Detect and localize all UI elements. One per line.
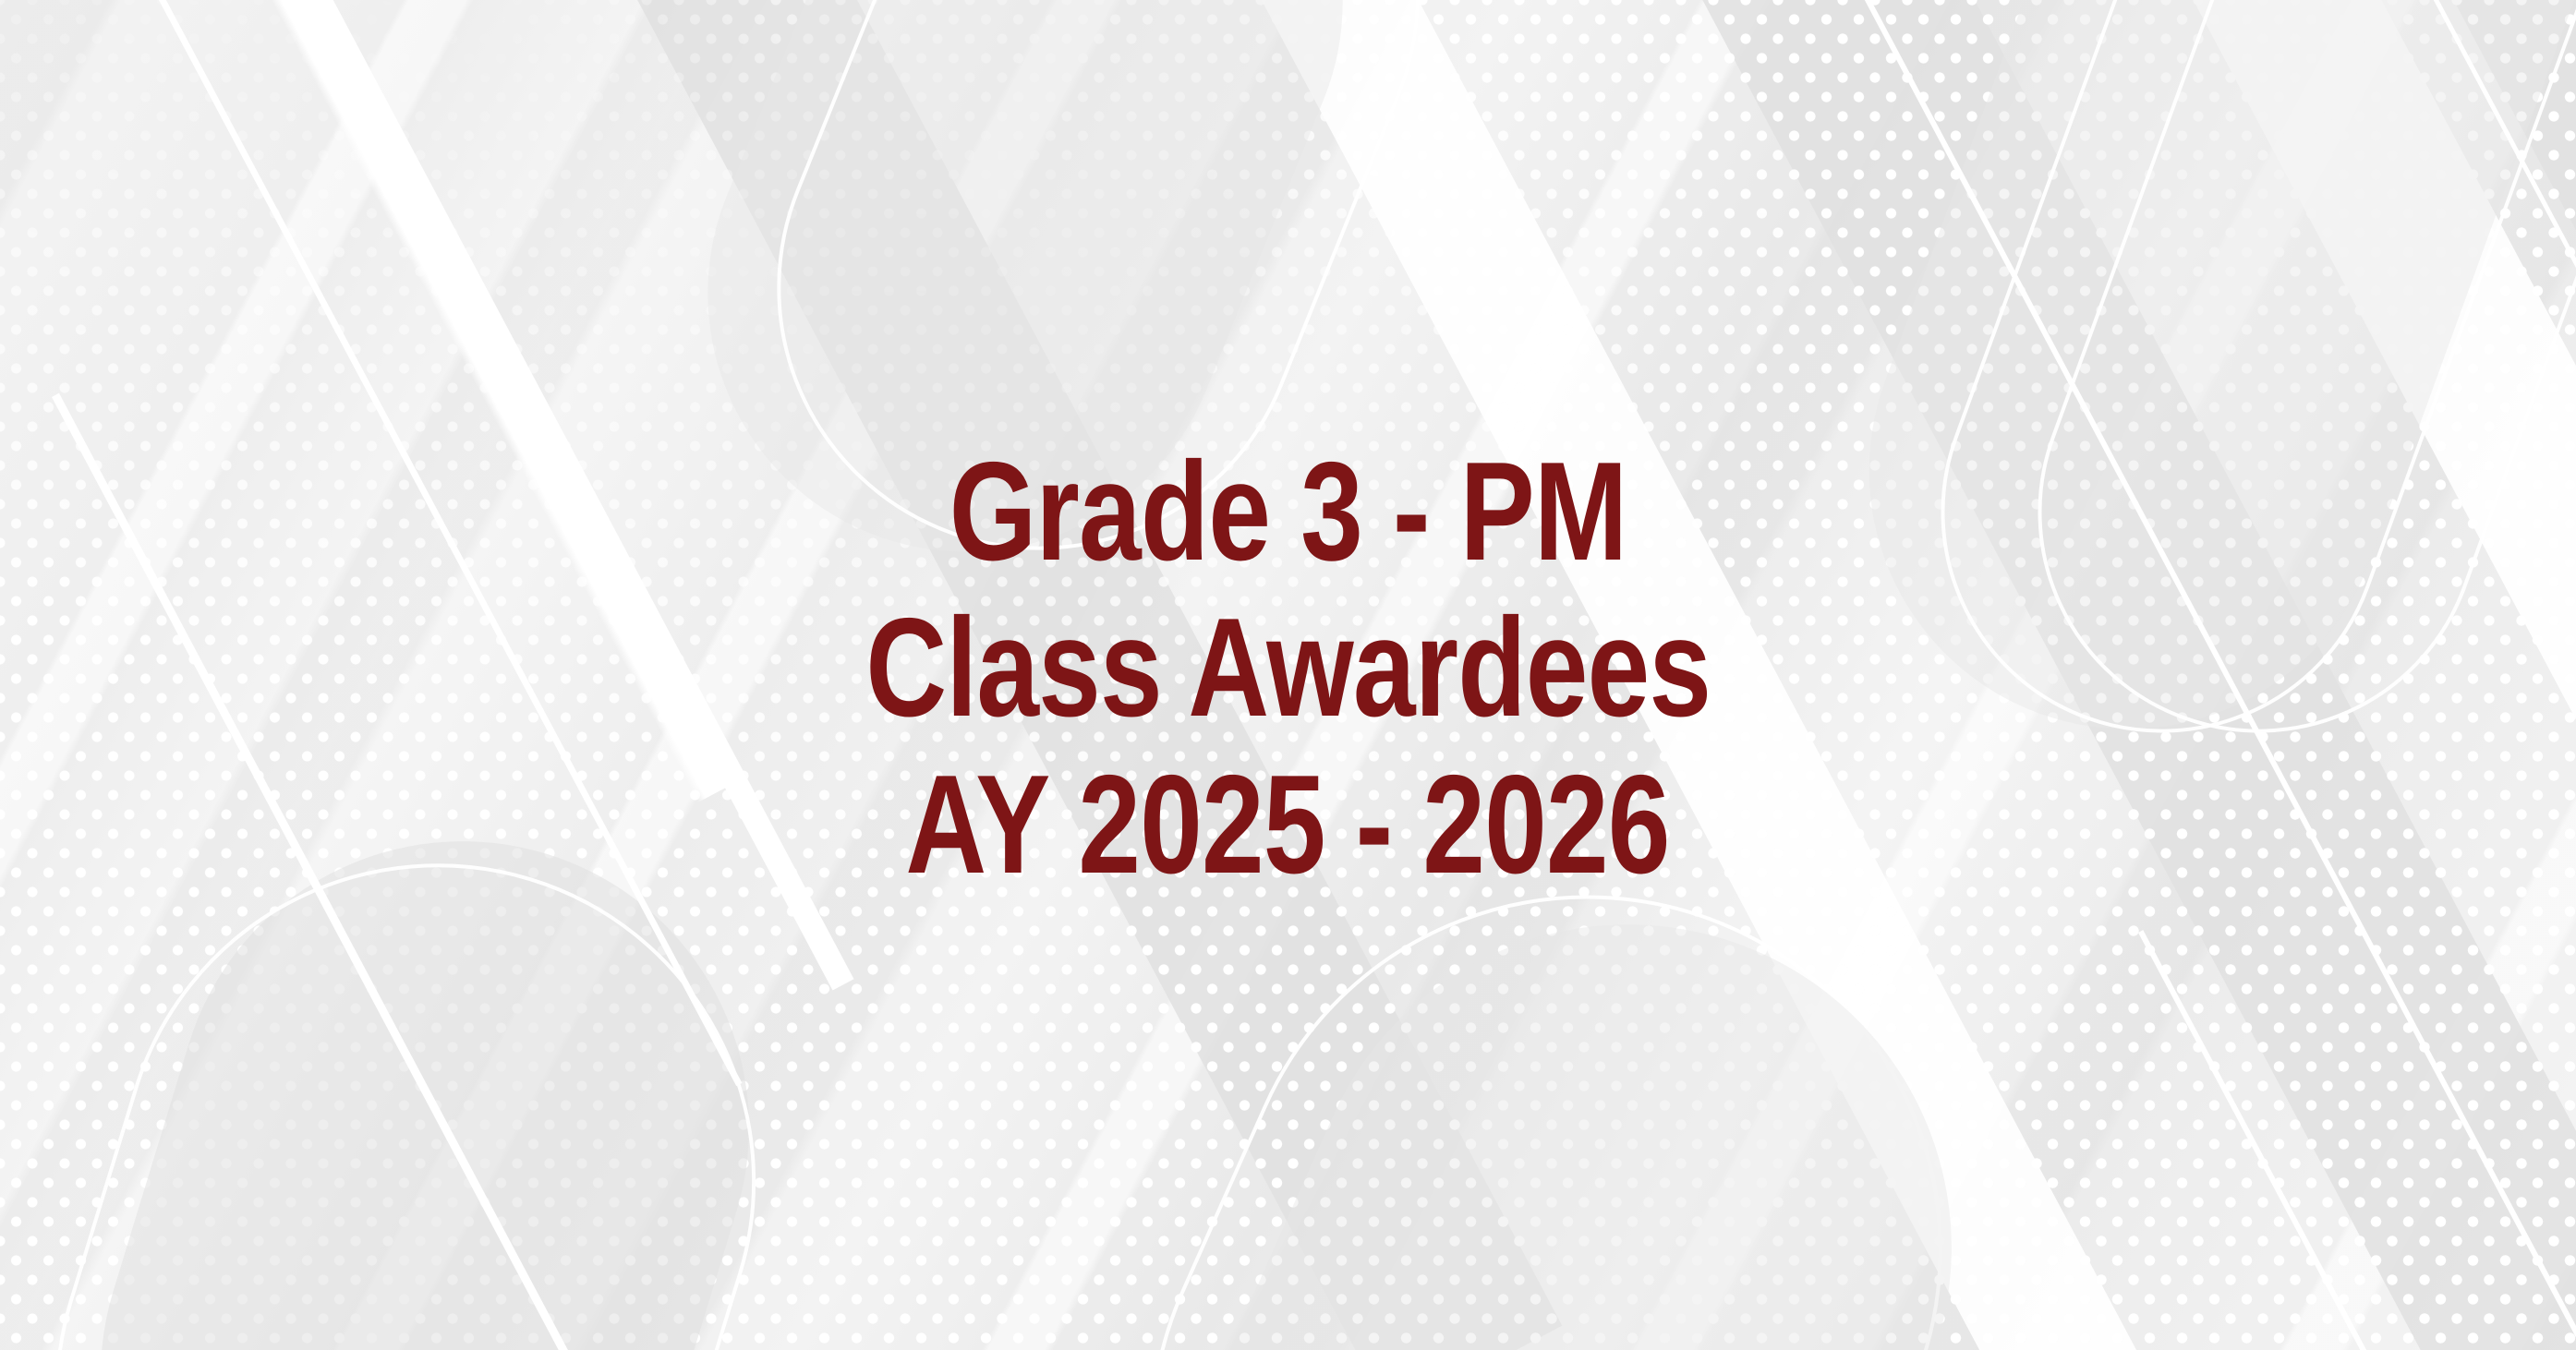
poster-title-line-2: Class Awardees <box>865 597 1711 753</box>
poster-title-line-1: Grade 3 - PM <box>949 440 1627 597</box>
awardees-poster: Grade 3 - PM Class Awardees AY 2025 - 20… <box>0 0 2576 1350</box>
poster-title-block: Grade 3 - PM Class Awardees AY 2025 - 20… <box>0 0 2576 1350</box>
poster-title-line-3: AY 2025 - 2026 <box>906 753 1670 910</box>
